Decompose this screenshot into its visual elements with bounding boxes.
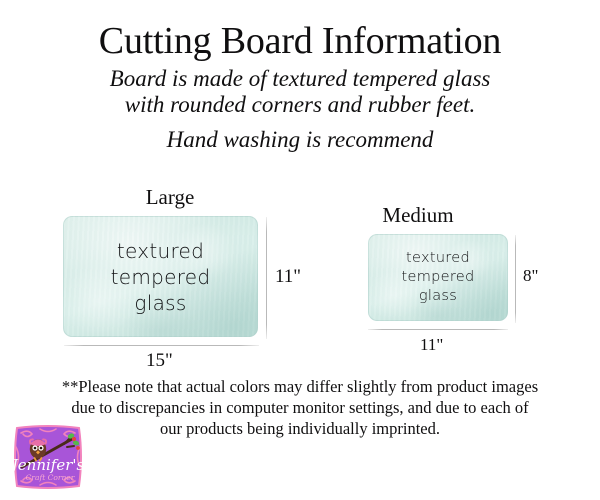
board-text-line-3: glass (419, 287, 457, 306)
product-info-graphic: Cutting Board Information Board is made … (0, 0, 600, 500)
product-medium: Medium textured tempered glass 8" 11" (330, 0, 600, 370)
brand-name-text: Jennifer's (10, 456, 85, 474)
dimension-label-width-medium: 11" (420, 334, 443, 355)
dimension-line-width-medium (368, 329, 508, 330)
board-preview-medium: textured tempered glass (368, 234, 508, 321)
size-label-large: Large (110, 186, 230, 209)
dimension-line-height-medium (515, 235, 516, 323)
board-preview-large: textured tempered glass (63, 216, 258, 337)
dimension-line-height-large (266, 217, 267, 339)
disclaimer-line-3: our products being individually imprinte… (28, 418, 572, 439)
brand-tagline-text: Craft Corner (26, 473, 75, 482)
dimension-label-width-large: 15" (146, 350, 173, 371)
brand-logo-icon: Jennifer's Craft Corner (10, 423, 86, 491)
board-text-line-3: glass (134, 290, 186, 316)
disclaimer-line-1: **Please note that actual colors may dif… (28, 376, 572, 397)
brand-logo[interactable]: Jennifer's Craft Corner (10, 423, 86, 491)
board-text-line-1: textured (406, 249, 470, 268)
dimension-label-height-large: 11" (275, 266, 301, 287)
disclaimer-text: **Please note that actual colors may dif… (28, 376, 572, 439)
board-surface-text-medium: textured tempered glass (368, 234, 508, 321)
board-text-line-2: tempered (111, 264, 211, 290)
board-text-line-1: textured (117, 238, 204, 264)
size-label-medium: Medium (348, 204, 488, 227)
dimension-line-width-large (64, 345, 259, 346)
dimension-label-height-medium: 8" (523, 265, 538, 286)
board-text-line-2: tempered (401, 268, 474, 287)
disclaimer-line-2: due to discrepancies in computer monitor… (28, 397, 572, 418)
product-large: Large textured tempered glass 11" 15" (0, 0, 330, 370)
board-surface-text-large: textured tempered glass (63, 216, 258, 337)
